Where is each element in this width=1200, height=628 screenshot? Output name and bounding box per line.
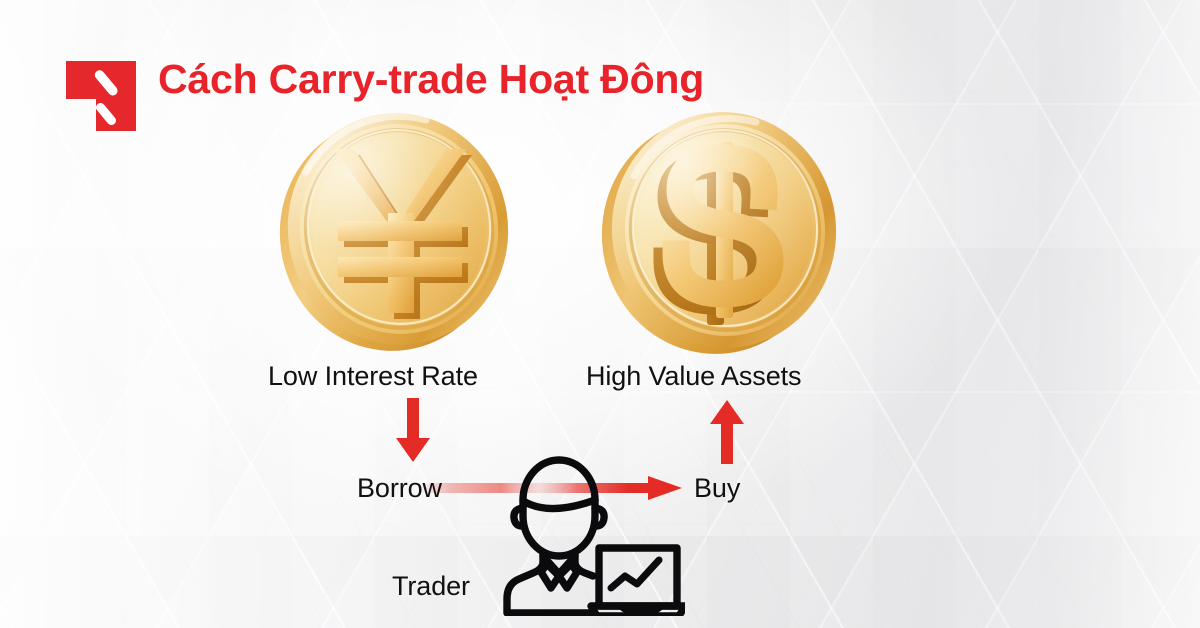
arrow-up-icon [704, 398, 750, 466]
gold-coin-dollar-icon [598, 104, 850, 356]
label-high-value-assets: High Value Assets [586, 361, 801, 392]
page-title: Cách Carry-trade Hoạt Đông [158, 58, 704, 101]
trader-icon-group [503, 452, 685, 616]
arrow-up-buy [704, 398, 750, 466]
label-low-interest-rate: Low Interest Rate [268, 361, 478, 392]
label-trader: Trader [392, 571, 470, 602]
trader-with-laptop-icon [503, 452, 685, 616]
arrow-down-borrow [390, 398, 436, 464]
label-buy: Buy [694, 473, 740, 504]
arrow-down-icon [390, 398, 436, 464]
coin-yen [276, 104, 518, 354]
gold-coin-yen-icon [276, 104, 518, 354]
label-borrow: Borrow [357, 473, 442, 504]
coin-dollar [598, 104, 850, 356]
brand-logo-icon [66, 61, 136, 131]
infographic-canvas: Cách Carry-trade Hoạt Đông [0, 0, 1200, 628]
brand-logo [66, 61, 136, 131]
